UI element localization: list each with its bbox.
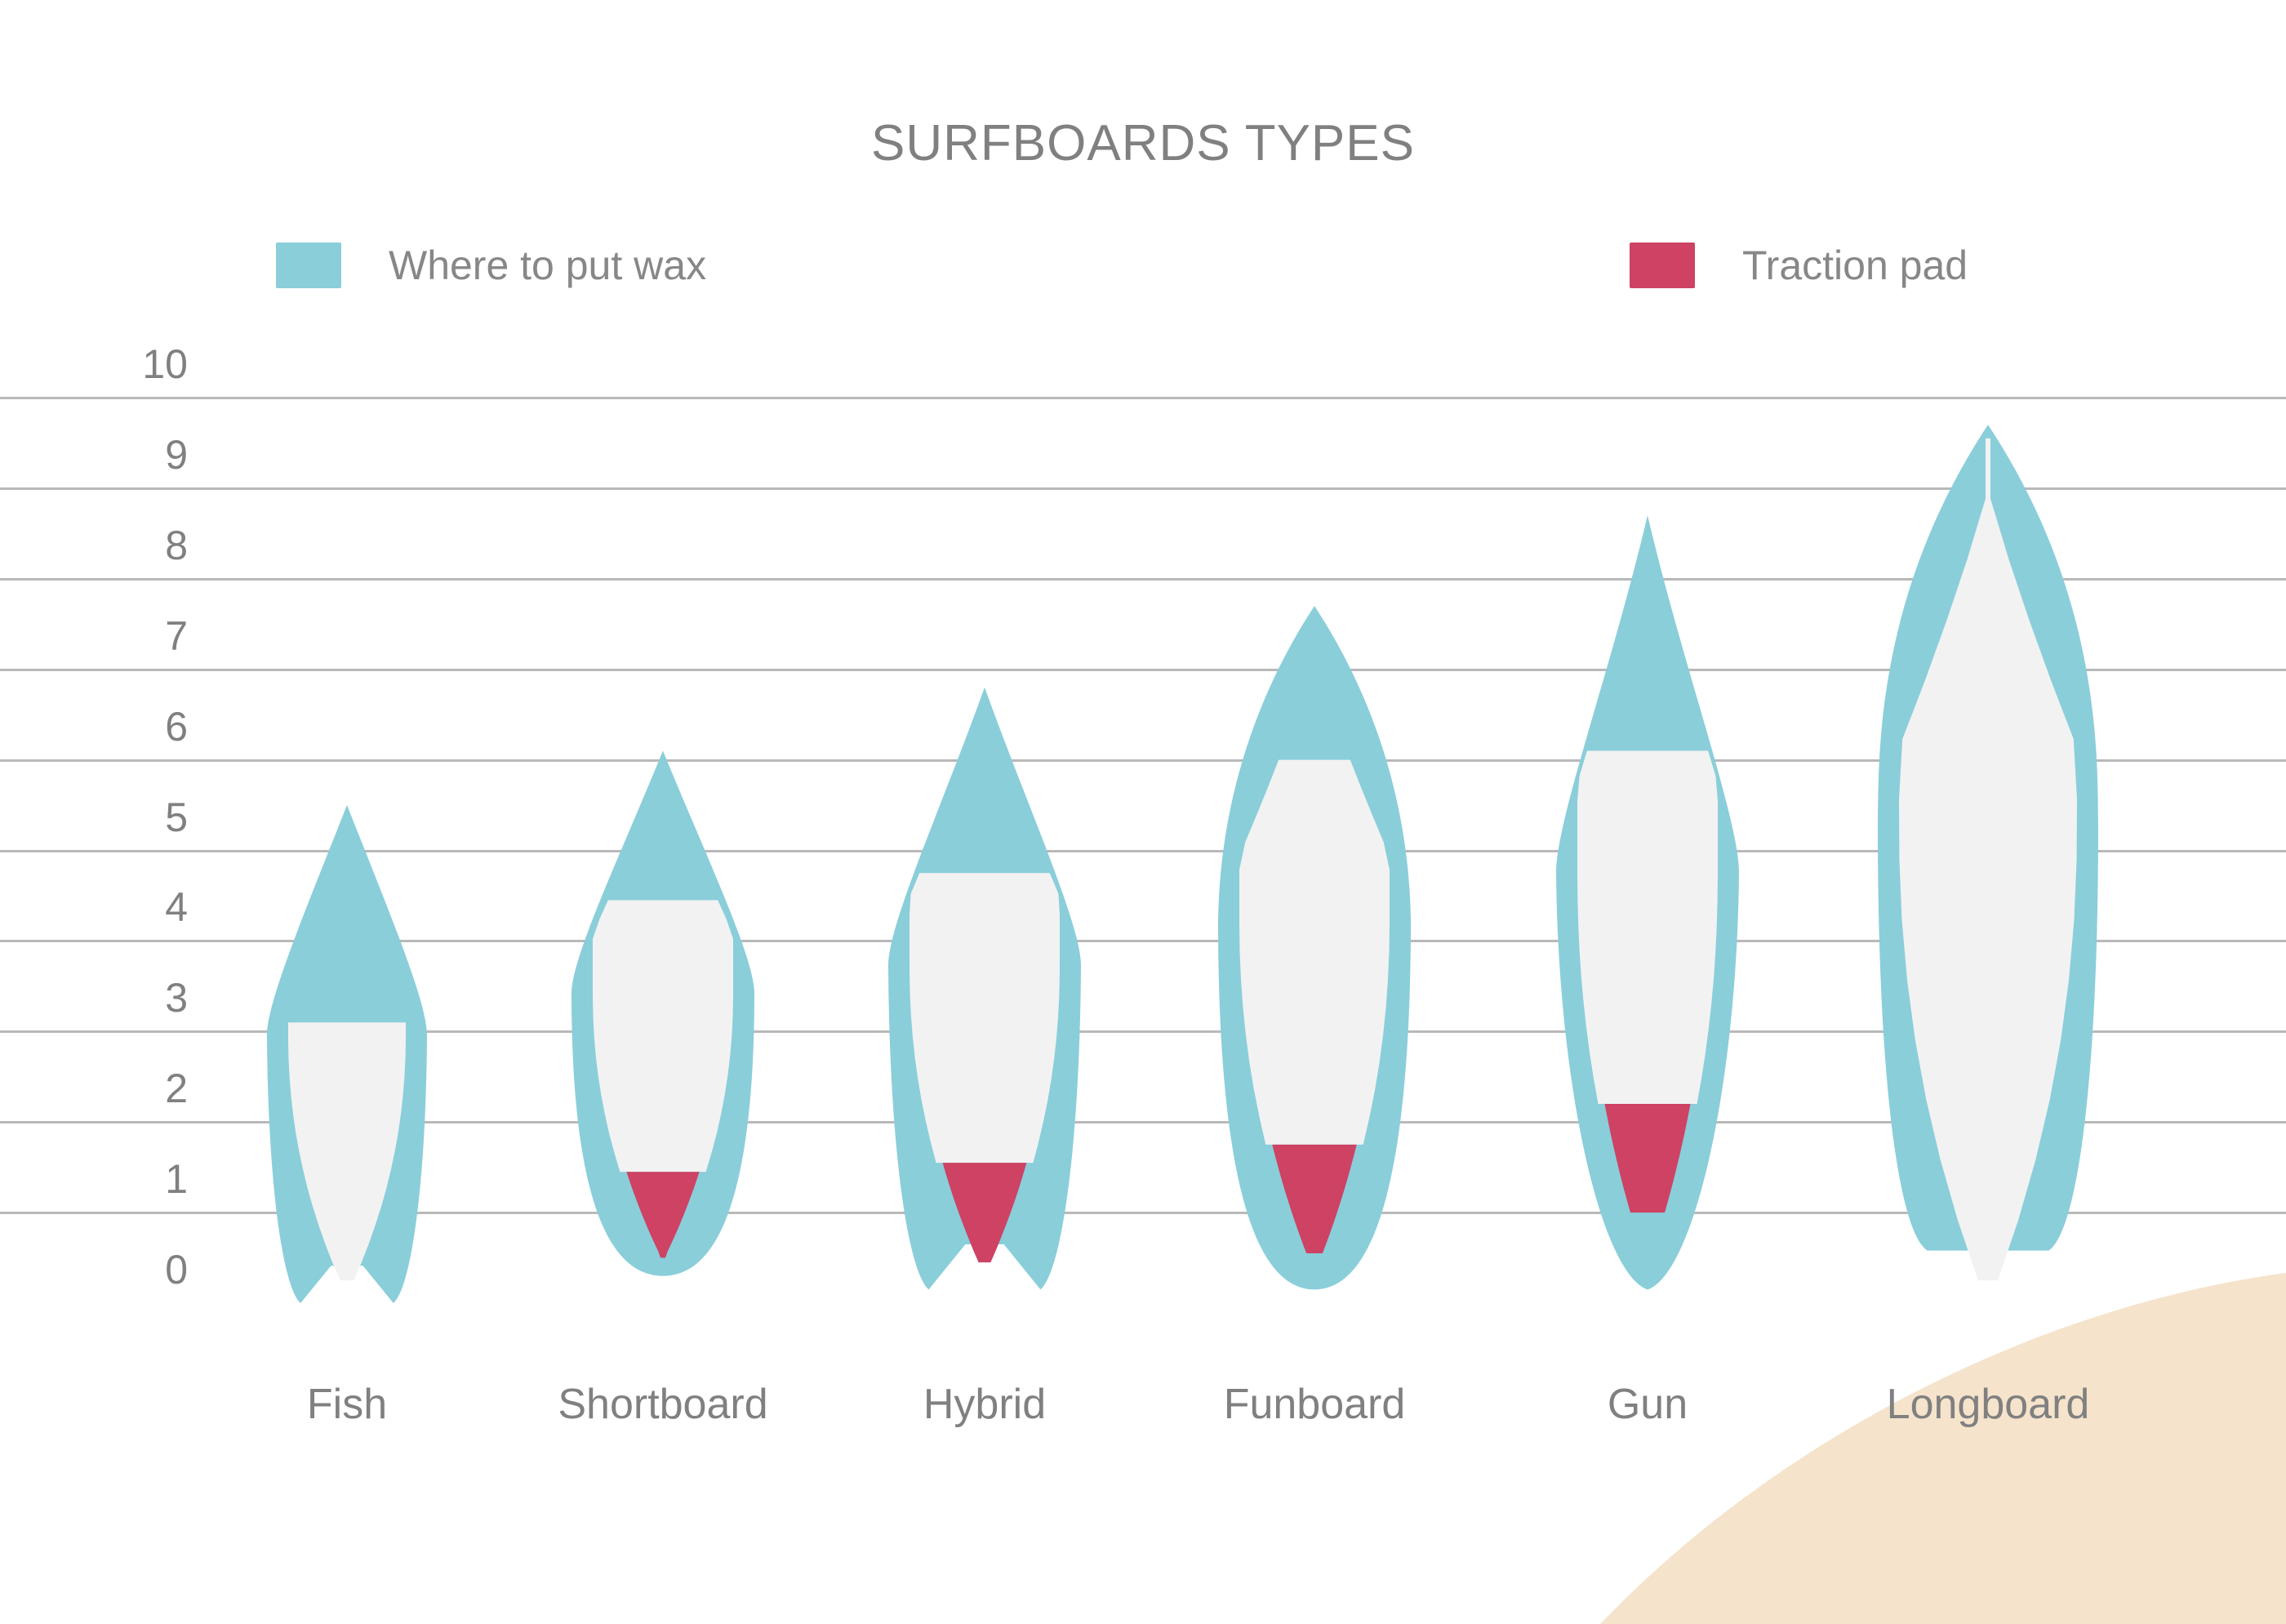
board-traction-pad (626, 1172, 699, 1257)
x-label-gun: Gun (1608, 1380, 1688, 1429)
x-label-funboard: Funboard (1224, 1380, 1406, 1429)
board-outline (267, 805, 427, 1303)
board-traction-pad (1605, 1104, 1691, 1212)
board-deck-unwaxed-area (593, 901, 733, 1172)
board-deck-unwaxed-area (288, 1022, 406, 1280)
x-axis-labels: FishShortboardHybridFunboardGunLongboard (0, 1380, 2286, 1453)
board-outline (571, 751, 754, 1276)
x-label-longboard: Longboard (1887, 1380, 2090, 1429)
board-deck-unwaxed-area (910, 873, 1060, 1163)
board-outline (1878, 425, 2098, 1250)
infographic-canvas: SURFBOARDS TYPES Where to put wax Tracti… (0, 0, 2286, 1624)
surfboard-series (0, 0, 2286, 1437)
x-label-fish: Fish (307, 1380, 387, 1429)
board-outline (1218, 606, 1411, 1289)
board-deck-unwaxed-area (1239, 760, 1390, 1145)
chart-plot-area: 109876543210 FishShortboardHybridFunboar… (0, 0, 2286, 1624)
board-deck-unwaxed-area (1899, 438, 2077, 1280)
board-traction-pad (1272, 1145, 1356, 1253)
board-outline (888, 687, 1081, 1289)
board-outline (1556, 515, 1739, 1289)
x-label-hybrid: Hybrid (923, 1380, 1046, 1429)
board-deck-unwaxed-area (1577, 751, 1718, 1105)
x-label-shortboard: Shortboard (558, 1380, 767, 1429)
board-traction-pad (943, 1163, 1027, 1262)
